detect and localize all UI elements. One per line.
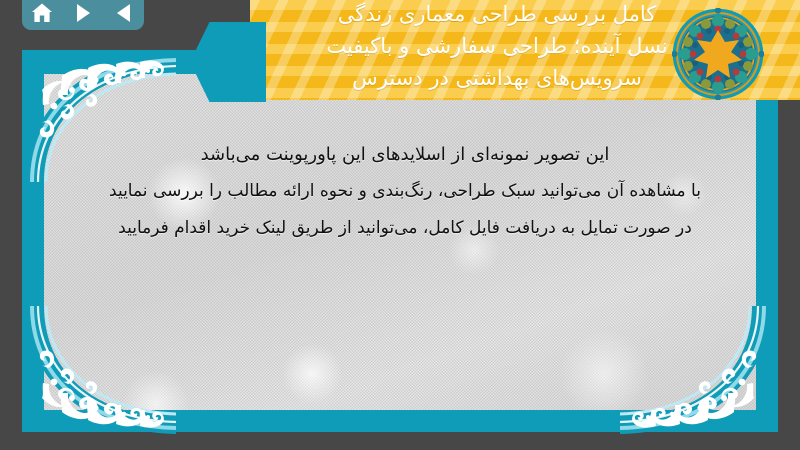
triangle-left-icon <box>117 4 130 22</box>
navigation-bar <box>22 0 144 30</box>
previous-button[interactable] <box>109 0 139 26</box>
triangle-right-icon <box>77 4 90 22</box>
bottom-teal-strip <box>22 410 778 432</box>
body-line-3: در صورت تمایل به دریافت فایل کامل، می‌تو… <box>60 210 750 247</box>
body-line-2: با مشاهده آن می‌توانید سبک طراحی، رنگ‌بن… <box>60 173 750 210</box>
home-icon <box>31 3 53 23</box>
slide-canvas: کامل بررسی طراحی معماری زندگی نسل آینده؛… <box>0 0 800 450</box>
home-button[interactable] <box>27 0 57 26</box>
slide-body-text: این تصویر نمونه‌ای از اسلایدهای این پاور… <box>60 136 750 247</box>
next-button[interactable] <box>68 0 98 26</box>
islamic-medallion-icon <box>672 8 764 100</box>
body-line-1: این تصویر نمونه‌ای از اسلایدهای این پاور… <box>60 136 750 173</box>
